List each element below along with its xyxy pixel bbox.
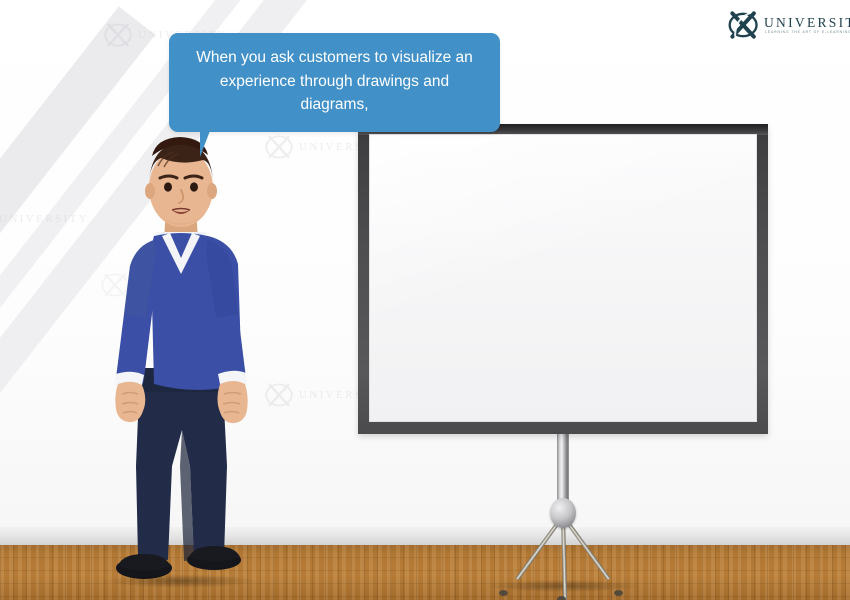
tripod-foot-center bbox=[557, 596, 566, 600]
projection-screen[interactable] bbox=[358, 124, 768, 434]
presenter-eye-left bbox=[164, 182, 172, 191]
tripod-leg-center bbox=[561, 516, 567, 600]
tripod-foot-right bbox=[614, 590, 623, 596]
x-monogram-icon bbox=[726, 8, 762, 42]
slide-canvas: UNIVERSITY UNIVERSITY UNIVERSITY UNIVERS… bbox=[0, 0, 850, 600]
brand-tagline: LEARNING THE ART OF E-LEARNING bbox=[765, 31, 850, 34]
screen-frame bbox=[358, 124, 768, 434]
screen-tripod-stand bbox=[358, 432, 768, 592]
tripod-foot-left bbox=[499, 590, 508, 596]
presenter-shadow bbox=[106, 574, 256, 588]
presenter-eye-right bbox=[190, 182, 198, 191]
presenter-character[interactable] bbox=[96, 136, 266, 592]
speech-bubble-tail bbox=[200, 115, 216, 157]
presenter-illustration bbox=[96, 136, 266, 592]
brand-logo: UNIVERSITY LEARNING THE ART OF E-LEARNIN… bbox=[726, 8, 850, 42]
speech-bubble-text: When you ask customers to visualize an e… bbox=[185, 46, 484, 117]
brand-wordmark: UNIVERSITY LEARNING THE ART OF E-LEARNIN… bbox=[764, 16, 850, 35]
speech-bubble-body: When you ask customers to visualize an e… bbox=[169, 33, 500, 132]
brand-name: UNIVERSITY bbox=[764, 16, 850, 30]
screen-glare bbox=[370, 135, 756, 421]
speech-bubble: When you ask customers to visualize an e… bbox=[169, 33, 500, 132]
tripod-hub-joint bbox=[550, 498, 576, 528]
screen-surface[interactable] bbox=[369, 134, 757, 422]
